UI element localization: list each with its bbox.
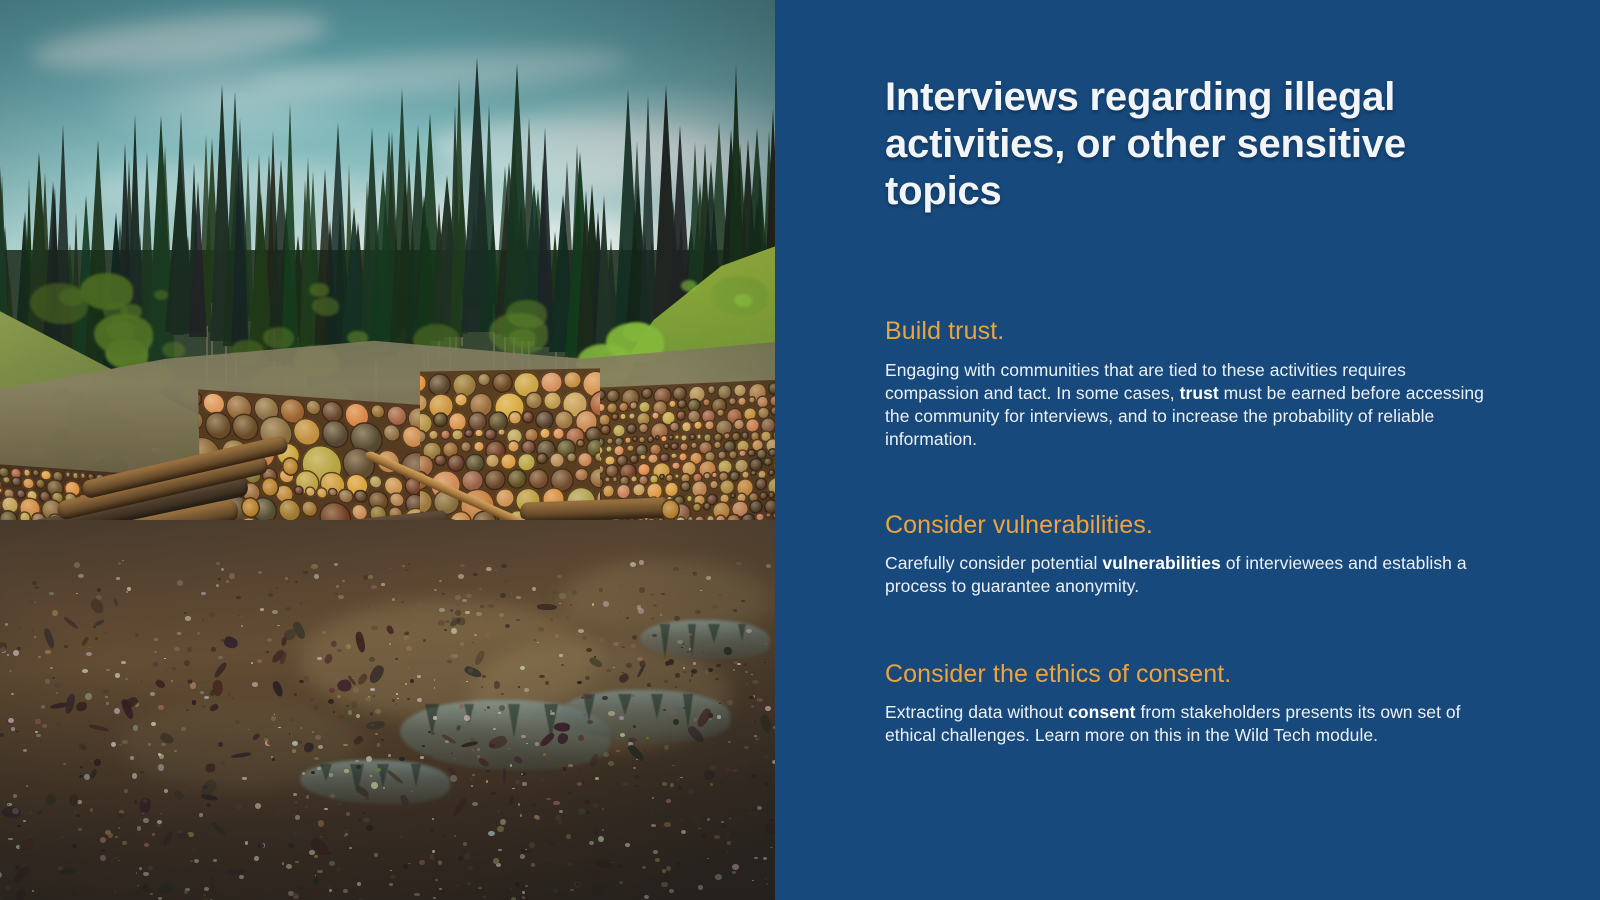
gravel-speck [472,642,474,643]
gravel-speck [725,776,728,779]
gravel-speck [368,605,370,607]
gravel-speck [35,719,40,723]
gravel-speck [430,829,435,832]
gravel-speck [199,813,202,817]
gravel-speck [370,688,375,691]
gravel-speck [292,749,296,752]
gravel-speck [80,766,83,769]
gravel-speck [586,667,590,670]
gravel-speck [57,757,59,758]
gravel-speck [366,825,372,831]
gravel-speck [770,819,774,821]
gravel-speck [12,861,14,862]
gravel-speck [137,885,139,887]
gravel-speck [164,658,166,659]
bark-debris [89,768,99,779]
gravel-speck [422,717,426,720]
gravel-speck [396,693,398,695]
gravel-speck [329,889,332,893]
bark-debris [81,636,90,647]
gravel-speck [177,580,183,586]
bark-debris [68,794,78,807]
gravel-speck [86,652,92,656]
gravel-speck [32,890,34,892]
gravel-speck [661,593,664,595]
bark-debris [78,743,88,752]
gravel-speck [100,837,106,843]
gravel-speck [652,634,657,637]
tree-reflection [508,704,520,738]
gravel-speck [751,739,756,744]
gravel-speck [365,797,369,800]
gravel-speck [500,593,506,599]
gravel-speck [442,834,445,837]
gravel-speck [35,789,37,791]
gravel-speck [520,854,525,858]
bark-debris [0,642,7,652]
gravel-speck [220,561,225,565]
gravel-speck [297,811,299,813]
gravel-speck [698,885,704,890]
section-body: Carefully consider potential vulnerabili… [885,552,1485,599]
gravel-speck [624,788,628,791]
gravel-speck [511,593,513,594]
gravel-speck [577,782,582,786]
gravel-speck [160,813,162,814]
gravel-speck [765,706,771,711]
gravel-speck [457,885,459,886]
gravel-speck [635,785,638,787]
gravel-speck [177,632,181,634]
gravel-speck [756,814,758,816]
gravel-speck [733,609,737,612]
gravel-speck [558,820,563,825]
bark-debris [2,807,21,818]
gravel-speck [221,568,225,572]
bark-debris [156,880,175,897]
bark-debris [93,618,105,627]
gravel-speck [545,681,549,684]
gravel-speck [594,831,598,834]
gravel-speck [434,589,436,591]
gravel-speck [644,750,645,751]
gravel-speck [606,669,611,672]
gravel-speck [399,757,405,761]
gravel-speck [139,867,142,870]
section-body: Extracting data without consent from sta… [885,701,1485,748]
gravel-speck [466,594,472,598]
gravel-speck [95,637,98,639]
gravel-speck [670,783,674,787]
gravel-speck [277,625,280,627]
gravel-speck [311,698,314,701]
gravel-speck [721,821,724,823]
gravel-speck [608,761,615,766]
gravel-speck [464,715,470,721]
gravel-speck [592,603,595,605]
gravel-speck [126,591,129,593]
gravel-speck [200,691,205,694]
gravel-speck [398,636,401,639]
gravel-speck [714,835,720,839]
gravel-speck [432,818,434,820]
gravel-speck [140,583,143,585]
gravel-speck [320,754,321,755]
gravel-speck [616,750,620,752]
gravel-speck [442,593,445,595]
gravel-speck [211,647,216,651]
section-consider-vulnerabilities: Consider vulnerabilities. Carefully cons… [885,512,1485,599]
gravel-speck [678,786,683,789]
gravel-speck [653,850,658,854]
gravel-speck [108,833,114,839]
gravel-speck [76,593,78,595]
gravel-speck [764,755,770,759]
gravel-speck [626,663,632,668]
gravel-speck [7,654,9,656]
gravel-speck [74,562,81,568]
gravel-speck [82,669,88,673]
bark-debris [702,769,715,781]
gravel-speck [603,752,609,757]
gravel-speck [35,731,38,733]
gravel-speck [751,674,753,675]
gravel-speck [157,824,162,828]
gravel-speck [546,798,550,800]
gravel-speck [401,601,404,603]
gravel-speck [348,710,353,715]
gravel-speck [511,897,516,900]
gravel-speck [754,735,757,737]
gravel-speck [499,613,504,617]
gravel-speck [174,750,177,752]
section-heading: Build trust. [885,318,1485,346]
gravel-speck [516,596,521,600]
bark-debris [503,768,506,783]
photo-panel [0,0,775,900]
gravel-speck [325,732,328,734]
gravel-speck [100,855,105,861]
gravel-speck [329,773,333,776]
gravel-speck [78,828,82,831]
gravel-speck [454,835,456,837]
gravel-speck [408,863,411,865]
bark-debris [62,616,79,630]
gravel-speck [90,808,93,812]
gravel-speck [693,662,696,664]
gravel-speck [13,794,17,798]
gravel-speck [137,826,142,831]
gravel-speck [299,886,303,888]
bark-debris [366,719,386,730]
gravel-speck [132,773,137,778]
gravel-speck [148,743,151,745]
gravel-speck [52,677,55,679]
gravel-speck [414,893,420,897]
gravel-speck [133,832,134,833]
gravel-speck [305,806,308,808]
gravel-speck [752,880,754,881]
bark-debris [139,798,152,815]
gravel-speck [349,847,352,849]
gravel-speck [743,663,747,666]
gravel-speck [120,568,123,570]
gravel-speck [759,664,765,667]
gravel-speck [677,778,680,780]
gravel-speck [238,615,240,617]
gravel-speck [204,887,209,891]
gravel-speck [181,727,186,731]
gravel-speck [522,782,527,787]
gravel-speck [661,882,667,887]
gravel-speck [676,862,680,865]
gravel-speck [488,604,494,608]
gravel-speck [294,833,297,835]
gravel-speck [218,656,222,660]
gravel-speck [239,875,244,880]
gravel-speck [122,740,128,744]
bark-debris [582,866,600,882]
gravel-speck [534,639,537,641]
gravel-speck [681,830,686,834]
gravel-speck [126,570,129,573]
gravel-speck [368,575,372,579]
gravel-speck [8,838,13,841]
gravel-speck [527,850,532,853]
gravel-speck [252,682,258,686]
gravel-speck [752,807,757,811]
bark-debris [141,884,150,894]
gravel-speck [568,792,573,795]
gravel-speck [286,864,292,869]
gravel-speck [719,594,721,596]
gravel-speck [468,866,474,871]
gravel-speck [358,819,362,822]
bark-debris [89,598,107,616]
gravel-speck [201,592,206,595]
gravel-speck [154,638,157,641]
gravel-speck [717,732,719,734]
gravel-speck [754,720,756,722]
gravel-speck [553,889,558,893]
gravel-speck [630,562,636,567]
gravel-speck [523,799,525,800]
gravel-speck [118,813,124,818]
gravel-speck [229,573,235,578]
gravel-speck [464,853,471,860]
gravel-speck [710,783,714,786]
gravel-speck [293,793,296,796]
gravel-speck [691,674,694,677]
gravel-speck [572,590,577,595]
gravel-speck [267,889,270,892]
gravel-speck [512,788,514,789]
gravel-speck [192,700,197,704]
gravel-speck [480,605,484,608]
emphasis: vulnerabilities [1102,553,1220,573]
bark-debris [92,887,108,897]
gravel-speck [727,841,732,845]
gravel-speck [372,730,374,731]
gravel-speck [559,810,563,813]
gravel-speck [652,797,654,798]
gravel-speck [49,592,55,595]
gravel-speck [751,705,754,708]
gravel-speck [687,651,689,653]
gravel-speck [581,696,584,699]
gravel-speck [675,673,680,677]
forest-logging-photo [0,0,775,900]
gravel-speck [42,724,47,729]
gravel-speck [121,661,126,664]
gravel-speck [751,774,757,778]
gravel-speck [45,679,50,684]
gravel-speck [11,693,14,695]
gravel-speck [152,833,155,835]
gravel-speck [529,842,535,848]
gravel-speck [72,844,77,848]
gravel-speck [602,808,604,809]
gravel-speck [26,785,29,787]
section-heading: Consider vulnerabilities. [885,512,1485,540]
gravel-speck [642,866,646,869]
gravel-speck [766,883,769,885]
page-title: Interviews regarding illegal activities,… [885,74,1495,216]
gravel-speck [34,601,36,603]
gravel-speck [422,745,424,747]
gravel-speck [683,671,686,673]
gravel-speck [551,564,553,565]
gravel-speck [559,654,563,657]
gravel-speck [52,610,58,616]
gravel-speck [119,744,121,746]
gravel-speck [428,731,430,733]
gravel-speck [218,742,223,747]
gravel-speck [315,875,316,876]
gravel-speck [442,581,444,582]
gravel-speck [171,680,173,682]
gravel-speck [11,727,15,731]
gravel-speck [402,565,404,567]
gravel-speck [621,646,625,648]
gravel-speck [576,883,580,886]
gravel-speck [608,711,615,715]
gravel-speck [677,640,683,644]
gravel-speck [716,664,721,667]
gravel-speck [204,696,209,700]
gravel-speck [221,761,226,765]
gravel-speck [515,882,520,887]
bark-debris [554,722,570,731]
gravel-speck [499,705,505,711]
gravel-speck [625,843,631,847]
gravel-speck [745,671,748,673]
gravel-speck [114,891,116,892]
gravel-speck [715,874,721,879]
gravel-speck [366,756,372,763]
gravel-speck [435,879,438,881]
gravel-speck [599,637,605,643]
gravel-speck [202,620,204,622]
gravel-speck [33,721,35,722]
gravel-speck [148,866,153,871]
gravel-speck [190,860,193,862]
gravel-speck [271,756,273,757]
gravel-speck [322,631,325,634]
gravel-speck [192,849,194,851]
bark-debris [597,858,613,868]
gravel-speck [197,632,200,635]
gravel-speck [680,818,684,822]
gravel-speck [447,660,451,664]
gravel-speck [143,872,149,876]
gravel-speck [295,802,297,803]
gravel-speck [486,770,489,772]
gravel-speck [314,855,317,858]
gravel-speck [260,608,265,611]
gravel-speck [550,618,553,621]
tree-reflection [708,624,720,643]
gravel-speck [106,702,109,705]
gravel-speck [216,562,220,565]
gravel-speck [497,810,500,813]
gravel-speck [166,671,168,672]
gravel-speck [518,803,520,805]
gravel-speck [242,777,246,779]
gravel-speck [622,782,628,786]
bark-debris [213,680,224,696]
gravel-speck [258,571,262,574]
gravel-speck [89,647,91,648]
gravel-speck [557,575,562,578]
gravel-speck [585,676,590,680]
tree-reflection [660,624,670,659]
gravel-speck [727,700,733,705]
bark-debris [177,833,190,840]
gravel-speck [419,860,425,866]
sections-list: Build trust. Engaging with communities t… [885,318,1485,748]
gravel-speck [336,585,339,588]
gravel-speck [413,609,415,610]
bark-debris [11,865,31,886]
gravel-speck [754,857,757,859]
gravel-speck [272,758,274,760]
gravel-speck [586,648,592,652]
gravel-speck [579,770,581,771]
gravel-speck [11,743,13,744]
gravel-speck [397,698,399,699]
gravel-speck [144,843,150,847]
gravel-speck [632,703,636,706]
gravel-speck [631,694,635,697]
gravel-speck [712,605,718,609]
gravel-speck [374,853,378,856]
gravel-speck [37,894,39,896]
gravel-speck [336,867,341,872]
gravel-speck [418,604,421,606]
gravel-speck [257,659,262,663]
gravel-speck [383,787,385,789]
gravel-speck [56,723,61,727]
gravel-speck [525,885,528,887]
bark-debris [223,635,239,649]
gravel-speck [732,769,738,773]
section-build-trust: Build trust. Engaging with communities t… [885,318,1485,452]
gravel-speck [236,804,242,810]
gravel-speck [277,813,279,815]
bark-debris [537,603,557,610]
gravel-speck [338,595,344,599]
